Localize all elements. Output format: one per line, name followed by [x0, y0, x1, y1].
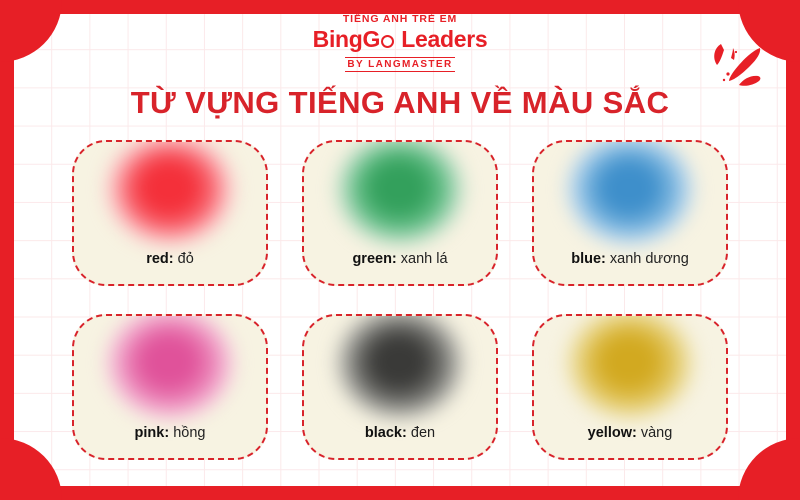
- card-label-yellow: yellow: vàng: [588, 425, 673, 441]
- card-english-black: black:: [365, 425, 407, 441]
- brand-kicker: TIẾNG ANH TRẺ EM: [0, 14, 800, 25]
- color-swatch-blue: [555, 140, 705, 253]
- brand-o-circle-icon: [381, 35, 394, 48]
- color-card-pink[interactable]: pink: hồng: [72, 314, 268, 460]
- card-label-pink: pink: hồng: [135, 425, 206, 441]
- card-vietnamese-green: xanh lá: [401, 251, 448, 267]
- paint-splash-icon: [698, 34, 772, 96]
- brand-logo: TIẾNG ANH TRẺ EM BingG Leaders BY LANGMA…: [0, 14, 800, 72]
- brand-name: BingG Leaders: [0, 28, 800, 51]
- card-vietnamese-pink: hồng: [173, 425, 205, 441]
- brand-name-b: B: [313, 26, 329, 52]
- color-card-grid: red: đỏ green: xanh lá blue: xanh dương: [72, 140, 728, 460]
- color-card-red[interactable]: red: đỏ: [72, 140, 268, 286]
- brand-name-leaders: Leaders: [395, 26, 487, 52]
- card-label-green: green: xanh lá: [352, 251, 447, 267]
- card-vietnamese-blue: xanh dương: [610, 251, 689, 267]
- poster-canvas: TIẾNG ANH TRẺ EM BingG Leaders BY LANGMA…: [0, 0, 800, 500]
- card-english-green: green:: [352, 251, 396, 267]
- color-swatch-yellow: [555, 314, 705, 427]
- card-english-pink: pink:: [135, 425, 170, 441]
- card-english-yellow: yellow:: [588, 425, 637, 441]
- color-card-black[interactable]: black: đen: [302, 314, 498, 460]
- card-english-blue: blue:: [571, 251, 606, 267]
- card-vietnamese-red: đỏ: [178, 251, 194, 267]
- card-label-blue: blue: xanh dương: [571, 251, 689, 267]
- card-label-red: red: đỏ: [146, 251, 194, 267]
- card-label-black: black: đen: [365, 425, 435, 441]
- card-english-red: red:: [146, 251, 173, 267]
- color-card-yellow[interactable]: yellow: vàng: [532, 314, 728, 460]
- color-swatch-pink: [95, 314, 245, 427]
- page-title: TỪ VỰNG TIẾNG ANH VỀ MÀU SẮC: [0, 85, 800, 121]
- color-swatch-black: [325, 314, 475, 427]
- color-swatch-red: [95, 140, 245, 253]
- card-vietnamese-black: đen: [411, 425, 435, 441]
- brand-name-ingg: ingG: [329, 26, 380, 52]
- color-card-green[interactable]: green: xanh lá: [302, 140, 498, 286]
- color-swatch-green: [325, 140, 475, 253]
- brand-subtitle: BY LANGMASTER: [345, 57, 454, 72]
- color-card-blue[interactable]: blue: xanh dương: [532, 140, 728, 286]
- card-vietnamese-yellow: vàng: [641, 425, 672, 441]
